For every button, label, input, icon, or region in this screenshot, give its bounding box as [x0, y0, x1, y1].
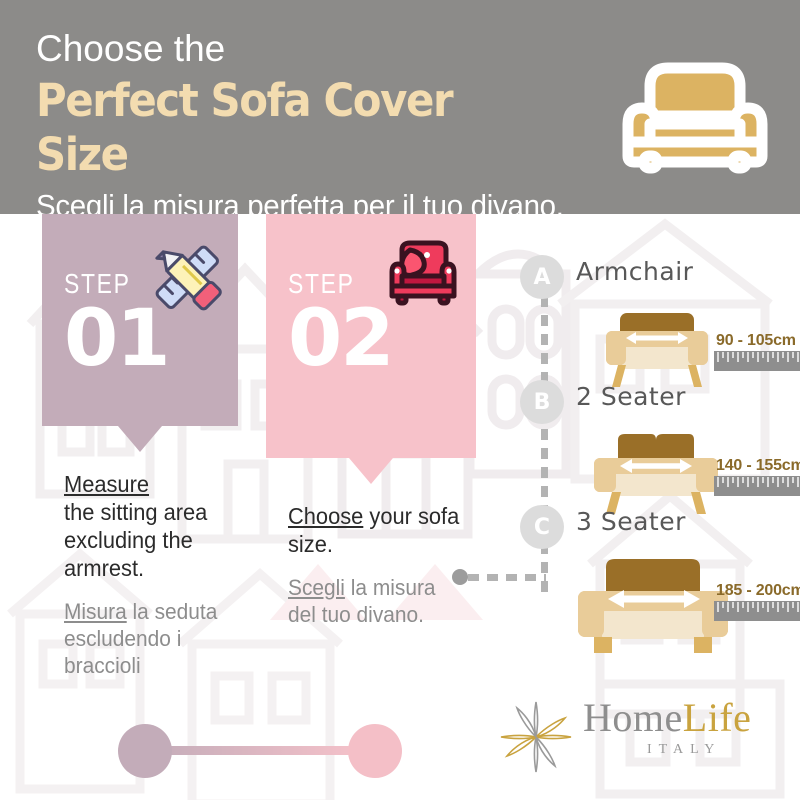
step-2-keyword-en: Choose [288, 503, 363, 529]
step-1-pointer [118, 426, 162, 452]
measurement-3-seater: 185 - 200cm [716, 582, 800, 600]
logo-life: Life [683, 695, 752, 740]
footer-dot-right [348, 724, 402, 778]
ruler-pencil-icon [146, 236, 230, 325]
header-banner: Choose the Perfect Sofa Cover Size Scegl… [0, 0, 800, 214]
header-title: Perfect Sofa Cover Size [36, 74, 557, 182]
ruler-icon-armchair [714, 351, 800, 376]
step-2-card: STEP 02 [266, 214, 476, 458]
infographic-page: Choose the Perfect Sofa Cover Size Scegl… [0, 0, 800, 800]
ruler-icon-3-seater [714, 601, 800, 626]
size-chart: A Armchair 90 - 105cm [520, 240, 800, 670]
armchair-1-seat-icon [602, 303, 712, 394]
step-1-keyword-en: Measure [64, 471, 149, 497]
size-badge-c: C [520, 505, 564, 549]
step-2-column: STEP 02 [266, 214, 476, 628]
ruler-icon-2-seater [714, 476, 800, 501]
size-label-2-seater: 2 Seater [576, 382, 686, 411]
size-label-3-seater: 3 Seater [576, 507, 686, 536]
size-badge-b: B [520, 380, 564, 424]
step-1-column: STEP 01 [42, 214, 238, 679]
step-2-text-it: Scegli la misura del tuo divano. [288, 574, 461, 628]
connector-dot [452, 569, 468, 585]
header-text-block: Choose the Perfect Sofa Cover Size Scegl… [36, 26, 596, 226]
header-line-1: Choose the [36, 26, 596, 72]
sofa-icon [614, 46, 776, 174]
step-1-body-en: the sitting area excluding the armrest. [64, 499, 207, 581]
logo-home: Home [583, 695, 683, 740]
footer-connector-line [148, 746, 368, 755]
flower-logo-icon [495, 696, 577, 783]
step-2-text-en: Choose your sofa size. [288, 502, 461, 558]
footer-dot-left [118, 724, 172, 778]
logo-subtitle: ITALY [583, 742, 751, 758]
step-2-pointer [349, 458, 393, 484]
sofa-3-seat-icon [568, 553, 736, 666]
red-armchair-icon [384, 238, 462, 317]
homelife-logo: HomeLife ITALY [495, 690, 791, 776]
size-badge-a: A [520, 255, 564, 299]
step-1-card: STEP 01 [42, 214, 238, 426]
size-label-armchair: Armchair [576, 257, 693, 286]
step-1-text-en: Measure the sitting area excluding the a… [64, 470, 224, 582]
step-1-text: Measure the sitting area excluding the a… [42, 426, 238, 679]
step-1-keyword-it: Misura [64, 599, 127, 624]
measurement-armchair: 90 - 105cm [716, 332, 796, 350]
measurement-2-seater: 140 - 155cm [716, 457, 800, 475]
step-1-text-it: Misura la seduta escludendo i braccioli [64, 598, 224, 679]
logo-wordmark: HomeLife [583, 696, 751, 740]
logo-text-block: HomeLife ITALY [583, 696, 751, 758]
step-2-keyword-it: Scegli [288, 575, 345, 600]
